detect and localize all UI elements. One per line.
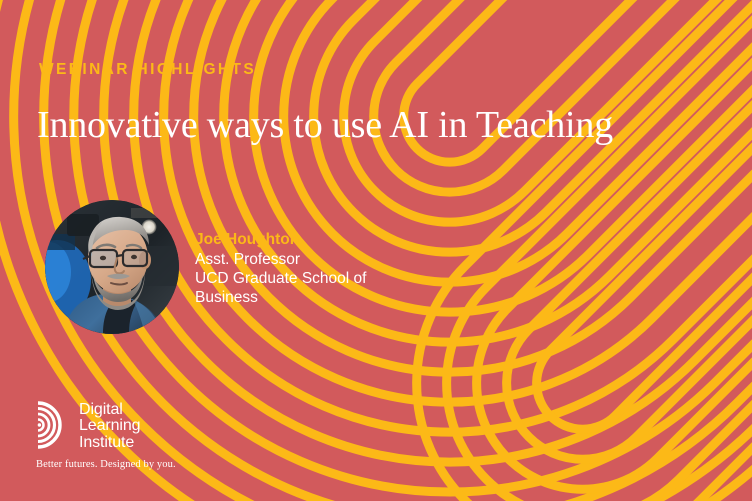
brand-logo: Digital Learning Institute Better future…: [36, 401, 176, 470]
speaker-organization: UCD Graduate School of Business: [195, 270, 390, 308]
brand-line-1: Digital: [79, 402, 140, 418]
eyebrow-label: WEBINAR HIGHLIGHTS: [39, 62, 256, 78]
brand-line-2: Learning: [79, 418, 140, 434]
avatar: [45, 200, 179, 334]
speaker-details: Joe Houghton Asst. Professor UCD Graduat…: [195, 231, 390, 308]
brand-wordmark: Digital Learning Institute: [79, 401, 140, 451]
brand-tagline: Better futures. Designed by you.: [36, 459, 176, 470]
speaker-name: Joe Houghton: [195, 231, 390, 250]
concentric-arcs-icon: [36, 401, 70, 449]
brand-line-3: Institute: [79, 435, 140, 451]
speaker-role: Asst. Professor: [195, 251, 390, 270]
webinar-highlight-card: WEBINAR HIGHLIGHTS Innovative ways to us…: [0, 0, 752, 501]
page-title: Innovative ways to use AI in Teaching: [37, 103, 613, 149]
